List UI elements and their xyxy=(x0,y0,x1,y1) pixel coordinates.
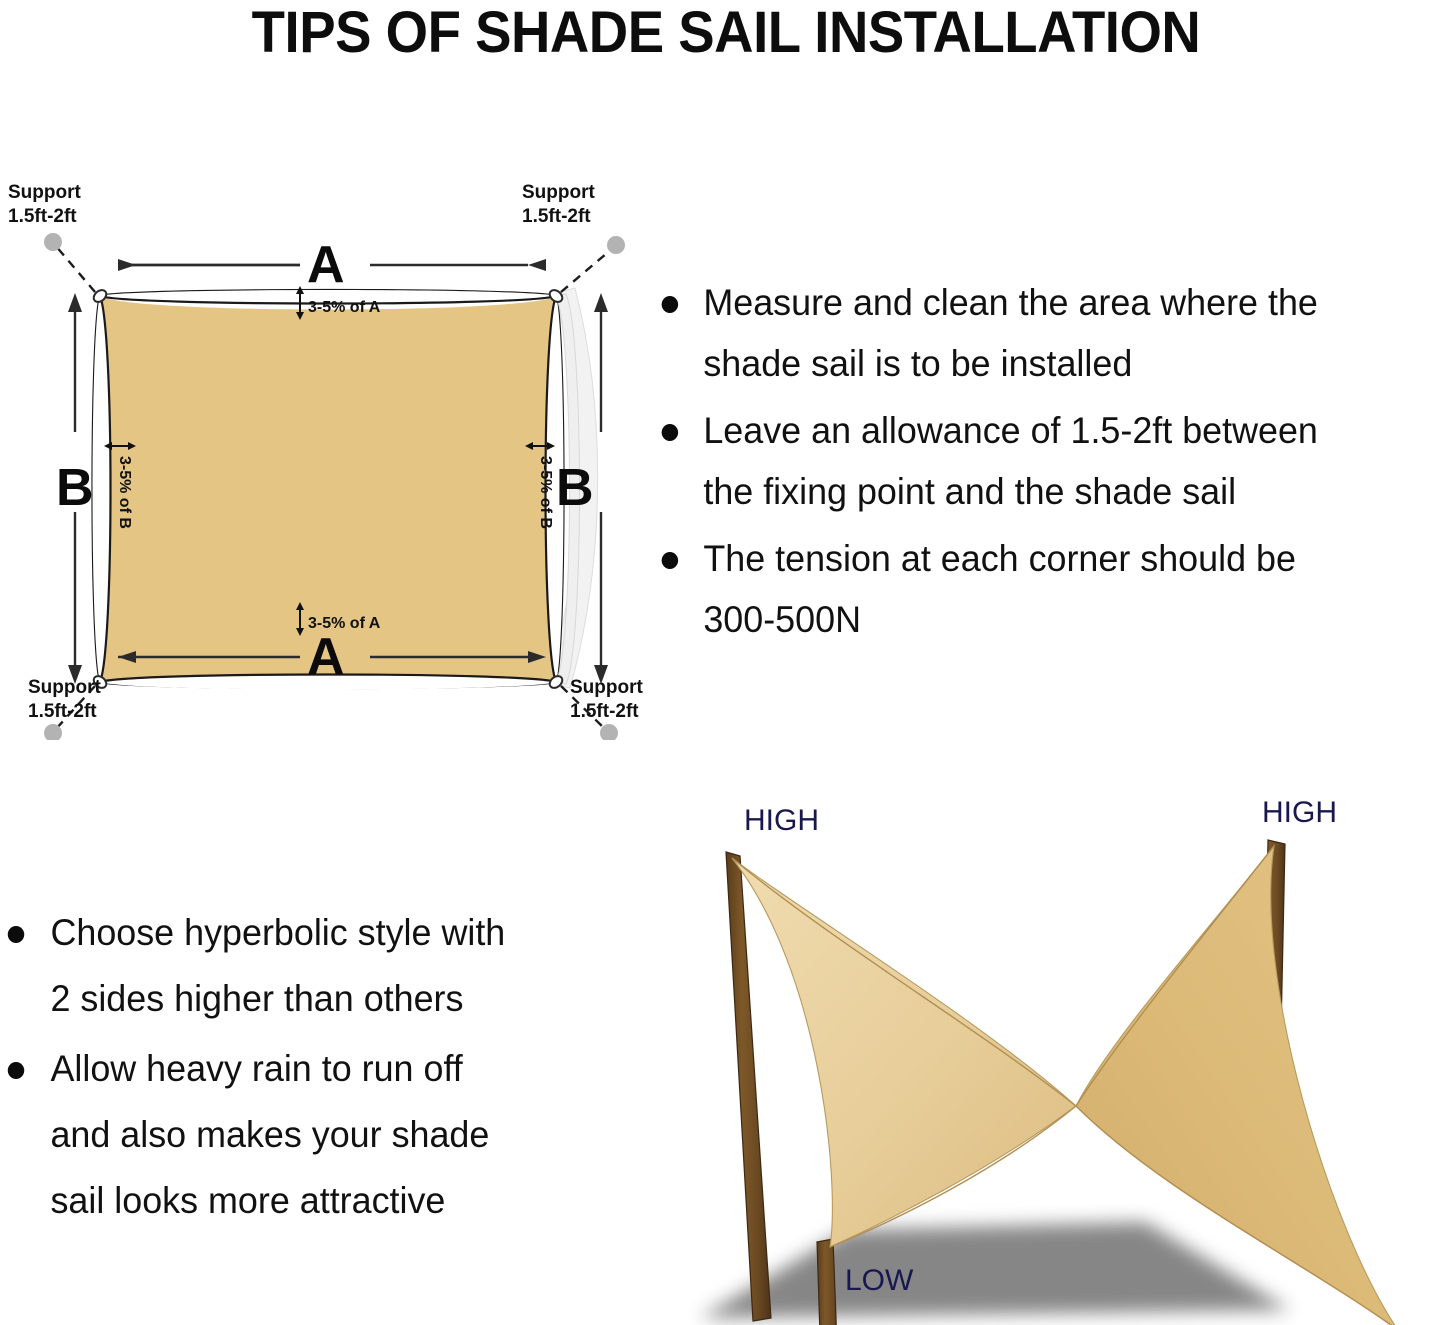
list-item: The tension at each corner should be 300… xyxy=(650,528,1426,650)
dim-label-left-b: B xyxy=(56,459,94,517)
tip-line: sail looks more attractive xyxy=(50,1180,445,1221)
pct-label-bottom: 3-5% of A xyxy=(308,615,381,632)
bullet-dot-icon xyxy=(8,1062,24,1079)
support-line-top-left xyxy=(55,245,95,292)
support-dot-top-right-icon xyxy=(607,236,625,254)
support-label-bottom-right-line1: Support xyxy=(570,677,643,698)
support-label-top-left-line2: 1.5ft-2ft xyxy=(8,206,77,227)
arrowhead-left-b-up-icon xyxy=(68,293,82,312)
support-line-top-right xyxy=(561,248,613,292)
tip-line: Measure and clean the area where the xyxy=(703,282,1318,323)
support-label-bottom-right: Support 1.5ft-2ft xyxy=(570,677,643,722)
pct-label-top: 3-5% of A xyxy=(308,299,381,316)
support-label-top-left-line1: Support xyxy=(8,182,81,203)
installation-tips-panel: Measure and clean the area where the sha… xyxy=(650,272,1450,656)
support-label-top-right-line1: Support xyxy=(522,182,595,203)
dim-label-right-b: B xyxy=(556,459,594,517)
support-dot-bottom-right-icon xyxy=(600,724,618,740)
list-item: Leave an allowance of 1.5-2ft between th… xyxy=(650,400,1426,522)
support-label-top-right-line2: 1.5ft-2ft xyxy=(522,206,591,227)
arrowhead-top-a-right-icon xyxy=(528,259,546,271)
hyperbolic-tips-list: Choose hyperbolic style with 2 sides hig… xyxy=(0,900,640,1234)
support-label-top-right: Support 1.5ft-2ft xyxy=(522,182,595,227)
dim-label-bottom-a: A xyxy=(307,628,345,686)
tip-line: 2 sides higher than others xyxy=(50,978,463,1019)
support-label-bottom-left: Support 1.5ft-2ft xyxy=(28,677,101,722)
tip-line: and also makes your shade xyxy=(50,1114,489,1155)
support-label-top-left: Support 1.5ft-2ft xyxy=(8,182,81,227)
support-dot-top-left-icon xyxy=(44,233,62,251)
ground-shadow xyxy=(700,1222,1290,1318)
infographic-page: TIPS OF SHADE SAIL INSTALLATION xyxy=(0,0,1452,1325)
rect-sail-diagram: Support 1.5ft-2ft Support 1.5ft-2ft Supp… xyxy=(0,160,660,740)
bullet-dot-icon xyxy=(8,926,24,943)
list-item: Measure and clean the area where the sha… xyxy=(650,272,1426,394)
hyperbolic-sail-illustration: HIGH HIGH LOW LOW xyxy=(640,790,1452,1325)
label-high-right: HIGH xyxy=(1262,796,1337,829)
support-label-bottom-left-line2: 1.5ft-2ft xyxy=(28,701,97,722)
pct-label-left: 3-5% of B xyxy=(116,456,133,529)
bullet-dot-icon xyxy=(662,424,678,441)
page-title: TIPS OF SHADE SAIL INSTALLATION xyxy=(44,2,1409,64)
bullet-dot-icon xyxy=(662,296,678,313)
hyperbolic-tips-panel: Choose hyperbolic style with 2 sides hig… xyxy=(0,900,640,1238)
installation-tips-list: Measure and clean the area where the sha… xyxy=(650,272,1450,650)
tip-line: Choose hyperbolic style with xyxy=(50,912,505,953)
bullet-dot-icon xyxy=(662,552,678,569)
sail-panel-left xyxy=(732,858,1076,1247)
tip-line: 300-500N xyxy=(703,599,861,640)
support-label-bottom-left-line1: Support xyxy=(28,677,101,698)
support-label-bottom-right-line2: 1.5ft-2ft xyxy=(570,701,639,722)
label-high-left: HIGH xyxy=(744,804,819,837)
pct-label-right: 3-5% of B xyxy=(537,456,554,529)
tip-line: The tension at each corner should be xyxy=(703,538,1296,579)
tip-line: Leave an allowance of 1.5-2ft between xyxy=(703,410,1318,451)
tip-line: the fixing point and the shade sail xyxy=(703,471,1236,512)
tip-line: shade sail is to be installed xyxy=(703,343,1132,384)
label-low-left: LOW xyxy=(845,1264,914,1297)
post-left-high xyxy=(726,852,771,1321)
arrowhead-right-b-up-icon xyxy=(594,293,608,312)
list-item: Allow heavy rain to run off and also mak… xyxy=(0,1036,621,1234)
tip-line: Allow heavy rain to run off xyxy=(50,1048,462,1089)
list-item: Choose hyperbolic style with 2 sides hig… xyxy=(0,900,621,1032)
dim-label-top-a: A xyxy=(307,236,345,294)
